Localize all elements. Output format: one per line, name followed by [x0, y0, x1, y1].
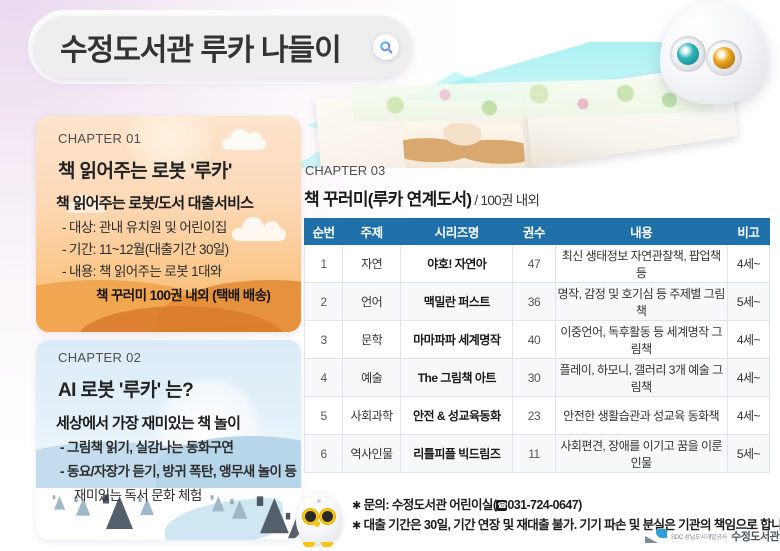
- robot-pupil-left: [677, 43, 699, 65]
- robot-eye-left: [670, 36, 706, 72]
- table-row: 6 역사인물 리틀피플 빅드림즈 11 사회편견, 장애를 이기고 꿈을 이룬 …: [305, 435, 770, 473]
- footer-note-contact: ✱문의: 수정도서관 어린이실(☎031-724-0647): [352, 494, 582, 513]
- cell-count: 23: [513, 397, 555, 435]
- owl-foot-right: [321, 542, 333, 547]
- page-title-bar: 수정도서관 루카 나들이: [34, 16, 412, 78]
- chapter-02-item-1: - 동요/자장가 듣기, 방귀 폭탄, 앵무새 놀이 등: [60, 462, 296, 483]
- table-row: 4 예술 The 그림책 아트 30 플레이, 하모니, 갤러리 3개 예술 그…: [305, 359, 770, 397]
- chapter-01-subtitle: 책 읽어주는 로봇/도서 대출서비스: [56, 192, 253, 213]
- chapter-02-label: CHAPTER 02: [58, 350, 141, 365]
- cell-desc: 이중언어, 독후활동 등 세계명작 그림책: [555, 321, 727, 359]
- chapter-03-label: CHAPTER 03: [305, 163, 385, 178]
- cell-no: 2: [305, 283, 343, 321]
- col-header-count: 권수: [513, 219, 555, 245]
- cell-count: 30: [513, 359, 555, 397]
- cell-series: 마마파파 세계명작: [401, 321, 513, 359]
- cell-desc: 명작, 감정 및 호기심 등 주제별 그림책: [555, 283, 727, 321]
- ch01-cloud-1: [222, 138, 266, 150]
- cell-desc: 플레이, 하모니, 갤러리 3개 예술 그림책: [555, 359, 727, 397]
- chapter-01-item-3: 책 꾸러미 100권 내외 (택배 배송): [96, 286, 270, 307]
- luka-owl-mascot: [292, 492, 346, 548]
- chapter-03-title-main: 책 꾸러미(루카 연계도서): [304, 190, 471, 209]
- sdc-logo-icon: [645, 529, 667, 543]
- cell-note: 4세~: [727, 359, 769, 397]
- poster-root: 수정도서관 루카 나들이 CHAPTER 01 책 읽: [0, 0, 780, 551]
- owl-foot-left: [303, 542, 315, 547]
- cell-note: 4세~: [727, 321, 769, 359]
- chapter-02-item-0: - 그림책 읽기, 실감나는 동화구연: [60, 438, 233, 459]
- cell-no: 4: [305, 359, 343, 397]
- logo-library-name: 수정도서관: [731, 528, 779, 544]
- cell-count: 40: [513, 321, 555, 359]
- book-bundle-table: 순번 주제 시리즈명 권수 내용 비고 1 자연 야호! 자연아 47 최신 생…: [304, 218, 770, 473]
- cell-desc: 사회편견, 장애를 이기고 꿈을 이룬 인물: [555, 435, 727, 473]
- cell-desc: 최신 생태정보 자연관찰책, 팝업책 등: [555, 245, 727, 283]
- cell-no: 1: [305, 245, 343, 283]
- owl-eye-right: [319, 508, 336, 525]
- cell-note: 5세~: [727, 283, 769, 321]
- page-title: 수정도서관 루카 나들이: [34, 25, 341, 69]
- note-contact-suffix: ): [578, 498, 582, 512]
- logo-sdc-text: SDC 성남도시개발공사: [671, 532, 727, 541]
- col-header-topic: 주제: [343, 219, 401, 245]
- chapter-01-item-2: - 내용: 책 읽어주는 로봇 1대와: [62, 262, 222, 283]
- chapter-03-title-suffix: / 100권 내외: [471, 193, 539, 208]
- cell-series: The 그림책 아트: [401, 359, 513, 397]
- col-header-desc: 내용: [555, 219, 727, 245]
- table-header-row: 순번 주제 시리즈명 권수 내용 비고: [305, 219, 770, 245]
- note-contact-prefix: 문의: 수정도서관 어린이실(: [364, 498, 497, 512]
- cell-topic: 언어: [343, 283, 401, 321]
- bullet-star-icon: ✱: [352, 500, 361, 512]
- phone-icon: ☎: [496, 500, 507, 511]
- chapter-01-title: 책 읽어주는 로봇 '루카': [58, 156, 232, 183]
- cell-count: 36: [513, 283, 555, 321]
- table-row: 1 자연 야호! 자연아 47 최신 생태정보 자연관찰책, 팝업책 등 4세~: [305, 245, 770, 283]
- cell-topic: 사회과학: [343, 397, 401, 435]
- cell-desc: 안전한 생활습관과 성교육 동화책: [555, 397, 727, 435]
- col-header-note: 비고: [727, 219, 769, 245]
- cell-count: 47: [513, 245, 555, 283]
- chapter-03-title: 책 꾸러미(루카 연계도서) / 100권 내외: [304, 185, 539, 210]
- col-header-no: 순번: [305, 219, 343, 245]
- cell-topic: 예술: [343, 359, 401, 397]
- book-photo-content: [401, 122, 525, 168]
- robot-eye-right: [706, 40, 742, 76]
- luka-robot-large: [648, 0, 780, 108]
- cell-series: 야호! 자연아: [401, 245, 513, 283]
- library-logo: SDC 성남도시개발공사 수정도서관: [645, 528, 779, 544]
- table-row: 5 사회과학 안전 & 성교육동화 23 안전한 생활습관과 성교육 동화책 4…: [305, 397, 770, 435]
- chapter-02-title: AI 로봇 '루카' 는?: [58, 375, 193, 402]
- col-header-series: 시리즈명: [401, 219, 513, 245]
- cell-series: 리틀피플 빅드림즈: [401, 435, 513, 473]
- bullet-star-icon: ✱: [352, 520, 361, 532]
- ch01-cloud-2: [232, 228, 286, 241]
- cell-series: 안전 & 성교육동화: [401, 397, 513, 435]
- cell-note: 5세~: [727, 435, 769, 473]
- owl-sensor-dot: [317, 499, 321, 503]
- cell-topic: 문학: [343, 321, 401, 359]
- chapter-01-item-1: - 기간: 11~12월(대출기간 30일): [62, 240, 229, 261]
- cell-topic: 역사인물: [343, 435, 401, 473]
- cell-count: 11: [513, 435, 555, 473]
- cell-no: 6: [305, 435, 343, 473]
- chapter-02-subtitle: 세상에서 가장 재미있는 책 놀이: [56, 412, 240, 433]
- cell-topic: 자연: [343, 245, 401, 283]
- cell-no: 3: [305, 321, 343, 359]
- cell-series: 맥밀란 퍼스트: [401, 283, 513, 321]
- table-row: 2 언어 맥밀란 퍼스트 36 명작, 감정 및 호기심 등 주제별 그림책 5…: [305, 283, 770, 321]
- cell-note: 4세~: [727, 397, 769, 435]
- chapter-01-item-0: - 대상: 관내 유치원 및 어린이집: [62, 218, 227, 239]
- chapter-01-label: CHAPTER 01: [58, 131, 141, 146]
- cell-no: 5: [305, 397, 343, 435]
- table-row: 3 문학 마마파파 세계명작 40 이중언어, 독후활동 등 세계명작 그림책 …: [305, 321, 770, 359]
- cell-note: 4세~: [727, 245, 769, 283]
- note-contact-phone: 031-724-0647: [507, 498, 578, 512]
- search-icon[interactable]: [373, 34, 399, 60]
- robot-pupil-right: [713, 47, 735, 69]
- chapter-02-item-2: 재미있는 독서 문화 체험: [74, 486, 202, 507]
